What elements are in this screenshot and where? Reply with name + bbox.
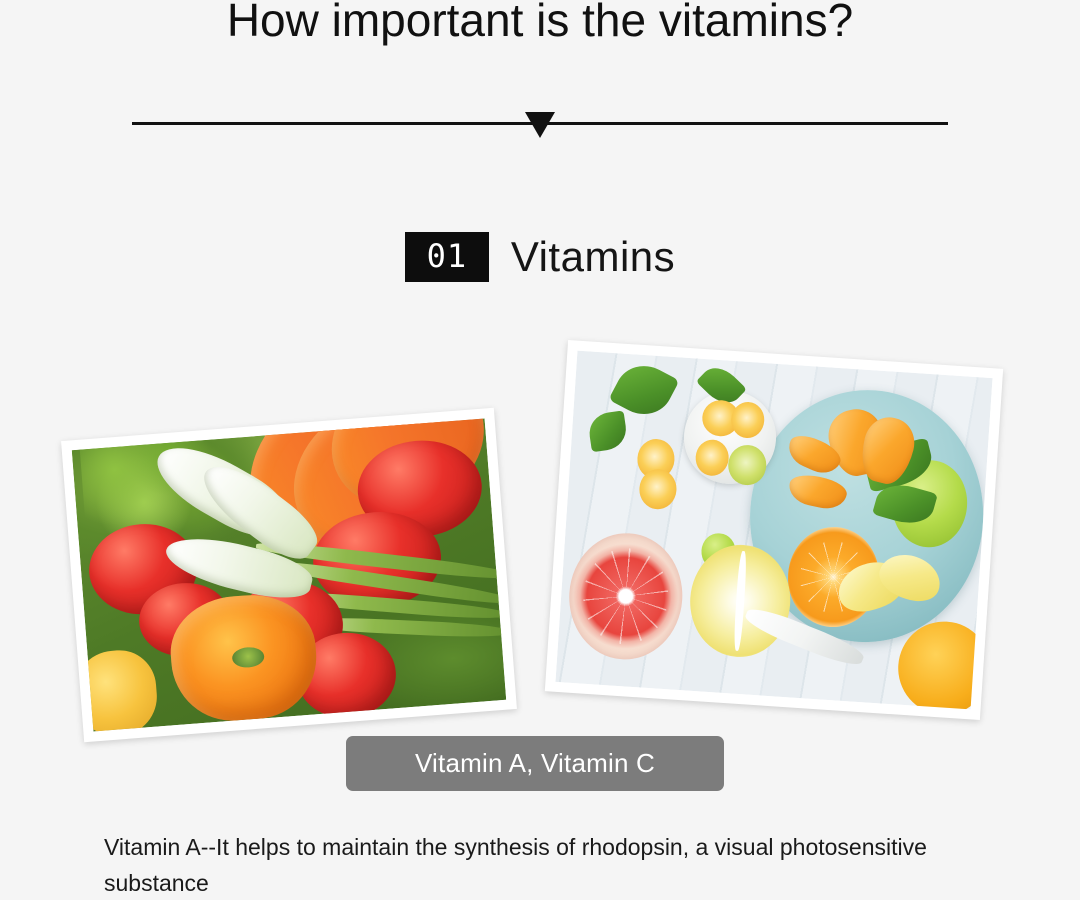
citrus-photo-image <box>555 351 992 710</box>
section-title: Vitamins <box>511 236 675 278</box>
chevron-down-arrow-icon <box>525 112 555 138</box>
section-header: 01 Vitamins <box>0 232 1080 282</box>
page-title: How important is the vitamins? <box>0 0 1080 47</box>
divider <box>132 112 948 146</box>
infographic-page: How important is the vitamins? 01 Vitami… <box>0 0 1080 900</box>
vegetables-photo-image <box>72 419 506 732</box>
section-number-badge: 01 <box>405 232 489 282</box>
chevron-notch <box>530 138 550 147</box>
vegetables-photo <box>61 408 517 742</box>
caption-badge: Vitamin A, Vitamin C <box>346 736 724 791</box>
citrus-photo <box>545 340 1003 720</box>
pepper-stem <box>231 646 264 668</box>
body-paragraph: Vitamin A--It helps to maintain the synt… <box>104 829 1024 900</box>
